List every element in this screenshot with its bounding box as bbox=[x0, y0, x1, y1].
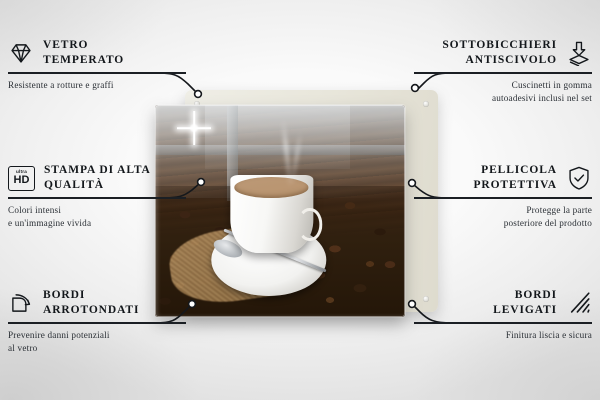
shield-check-icon bbox=[566, 165, 592, 191]
feature-title: SOTTOBICCHIERIANTISCIVOLO bbox=[442, 38, 557, 68]
feature-sottobicchieri-antiscivolo: SOTTOBICCHIERIANTISCIVOLO Cuscinetti in … bbox=[387, 38, 592, 105]
feature-subtitle: Finitura liscia e sicura bbox=[387, 329, 592, 342]
feature-vetro-temperato: VETROTEMPERATO Resistente a rotture e gr… bbox=[8, 38, 213, 92]
feature-header: ultra HD STAMPA DI ALTAQUALITÀ bbox=[8, 163, 213, 193]
feature-bordi-arrotondati: BORDIARROTONDATI Prevenire danni potenzi… bbox=[8, 288, 213, 355]
feature-title: BORDIARROTONDATI bbox=[43, 288, 139, 318]
feature-stampa-alta-qualita: ultra HD STAMPA DI ALTAQUALITÀ Colori in… bbox=[8, 163, 213, 230]
rounded-corner-icon bbox=[8, 290, 34, 316]
ultra-hd-icon: ultra HD bbox=[8, 166, 35, 191]
feature-divider bbox=[8, 72, 186, 73]
feature-header: BORDIARROTONDATI bbox=[8, 288, 213, 318]
polished-edge-lines-icon bbox=[566, 290, 592, 316]
feature-header: SOTTOBICCHIERIANTISCIVOLO bbox=[387, 38, 592, 68]
feature-divider bbox=[8, 197, 186, 198]
press-pad-arrow-icon bbox=[566, 40, 592, 66]
feature-pellicola-protettiva: PELLICOLAPROTETTIVA Protegge la partepos… bbox=[387, 163, 592, 230]
feature-title: VETROTEMPERATO bbox=[43, 38, 124, 68]
feature-subtitle: Protegge la parteposteriore del prodotto bbox=[387, 204, 592, 231]
feature-header: BORDILEVIGATI bbox=[387, 288, 592, 318]
cup-handle bbox=[298, 208, 322, 241]
coffee-cup bbox=[230, 175, 313, 253]
feature-subtitle: Cuscinetti in gommaautoadesivi inclusi n… bbox=[387, 79, 592, 106]
window-frame-horizontal bbox=[155, 145, 405, 155]
feature-divider bbox=[8, 322, 186, 323]
feature-title: BORDILEVIGATI bbox=[493, 288, 557, 318]
feature-bordi-levigati: BORDILEVIGATI Finitura liscia e sicura bbox=[387, 288, 592, 342]
ultra-hd-icon-large-label: HD bbox=[14, 175, 30, 186]
feature-divider bbox=[414, 72, 592, 73]
feature-divider bbox=[414, 322, 592, 323]
feature-subtitle: Resistente a rotture e graffi bbox=[8, 79, 213, 92]
diamond-icon bbox=[8, 40, 34, 66]
feature-header: PELLICOLAPROTETTIVA bbox=[387, 163, 592, 193]
feature-subtitle: Prevenire danni potenzialial vetro bbox=[8, 329, 213, 356]
coffee-crema bbox=[234, 177, 308, 197]
feature-title: STAMPA DI ALTAQUALITÀ bbox=[44, 163, 151, 193]
infographic-canvas: VETROTEMPERATO Resistente a rotture e gr… bbox=[0, 0, 600, 400]
feature-header: VETROTEMPERATO bbox=[8, 38, 213, 68]
feature-subtitle: Colori intensie un'immagine vivida bbox=[8, 204, 213, 231]
feature-title: PELLICOLAPROTETTIVA bbox=[473, 163, 557, 193]
feature-divider bbox=[414, 197, 592, 198]
